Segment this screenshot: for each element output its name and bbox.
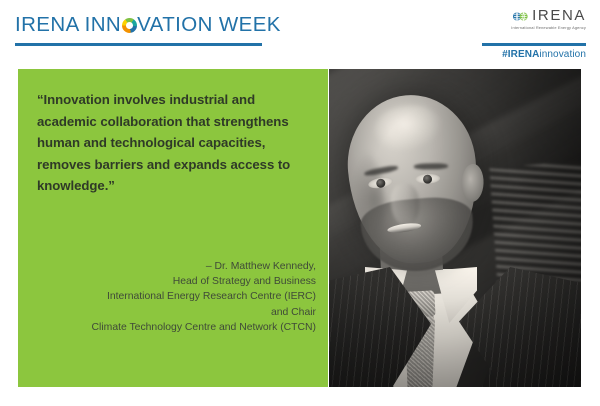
attribution-line: Climate Technology Centre and Network (C… <box>36 320 316 335</box>
quote-text: “Innovation involves industrial and acad… <box>37 89 309 197</box>
page-title: IRENA INNVATION WEEK <box>15 12 295 38</box>
speaker-portrait-photo <box>329 69 581 387</box>
hashtag-light-part: innovation <box>539 49 586 60</box>
photo-vignette <box>329 69 581 387</box>
hashtag-label: #IRENAinnovation <box>502 49 586 60</box>
brand-underline-rule <box>482 43 586 46</box>
quote-attribution: – Dr. Matthew Kennedy, Head of Strategy … <box>36 259 316 335</box>
attribution-line: Head of Strategy and Business <box>36 274 316 289</box>
brand-block: IRENA International Renewable Energy Age… <box>468 8 586 31</box>
irena-circle-logo-icon <box>122 18 137 33</box>
attribution-line: – Dr. Matthew Kennedy, <box>36 259 316 274</box>
event-title-part-2: VATION WEEK <box>137 13 281 36</box>
irena-logo: IRENA <box>468 8 586 24</box>
globe-leaf-icon <box>513 10 528 23</box>
brand-tagline: International Renewable Energy Agency <box>468 25 586 31</box>
quote-panel: “Innovation involves industrial and acad… <box>18 69 328 387</box>
slide-canvas: IRENA INNVATION WEEK IRENA International… <box>0 0 600 406</box>
attribution-line: International Energy Research Centre (IE… <box>36 289 316 304</box>
title-underline-rule <box>15 43 262 46</box>
brand-name: IRENA <box>532 8 586 24</box>
attribution-line: and Chair <box>36 305 316 320</box>
event-title-part-1: IRENA INN <box>15 13 121 36</box>
event-title-block: IRENA INNVATION WEEK <box>15 12 295 38</box>
hashtag-bold-part: #IRENA <box>502 49 539 60</box>
